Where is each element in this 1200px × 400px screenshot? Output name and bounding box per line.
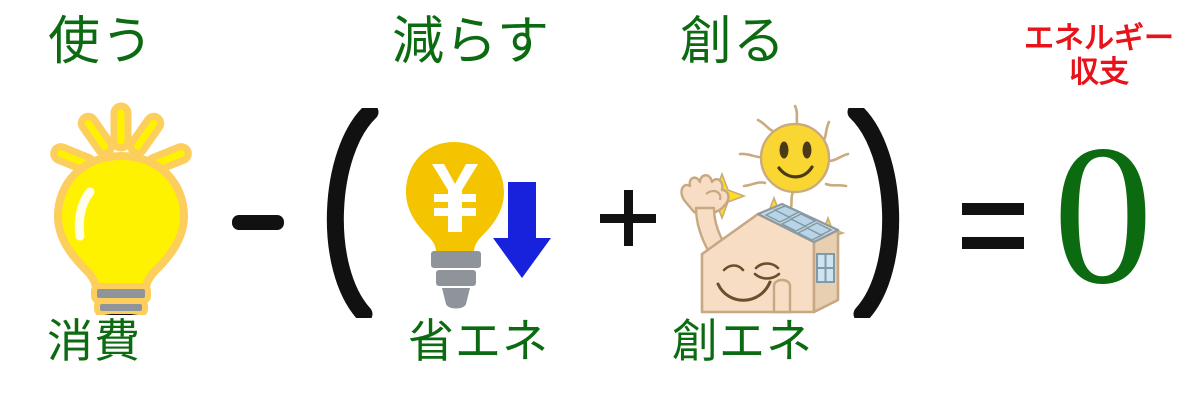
lightbulb-icon <box>30 100 210 315</box>
caption-consumption: 消費 <box>47 318 141 364</box>
caption-energy-saving: 省エネ <box>408 318 549 364</box>
equals-operator-icon <box>962 203 1024 249</box>
energy-balance-diagram: 使う 消費 減らす <box>0 0 1200 400</box>
heading-consumption: 使う <box>48 16 154 68</box>
result-heading: エネルギー 収支 <box>1006 22 1192 89</box>
result-heading-line1: エネルギー <box>1006 22 1192 56</box>
open-paren-icon <box>308 108 380 318</box>
result-value: 0 <box>1053 116 1153 316</box>
heading-energy-saving: 減らす <box>392 16 550 68</box>
close-paren-icon <box>846 108 918 318</box>
heading-energy-creation: 創る <box>680 16 786 68</box>
result-heading-line2: 収支 <box>1006 56 1192 90</box>
minus-operator-icon <box>232 215 284 230</box>
plus-operator-icon <box>600 190 656 246</box>
caption-energy-creation: 創エネ <box>672 318 813 364</box>
solar-house-sun-icon <box>662 82 867 322</box>
lightbulb-yen-down-arrow-icon <box>398 138 568 318</box>
